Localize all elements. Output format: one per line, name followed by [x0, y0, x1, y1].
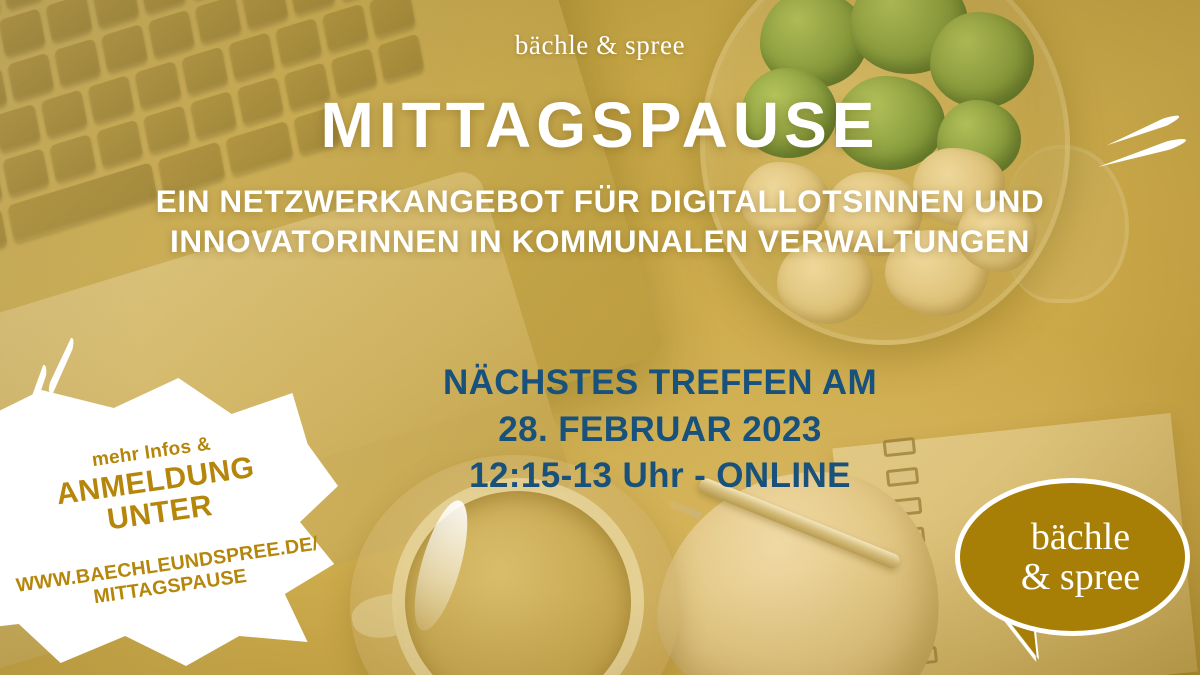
event-line-1: NÄCHSTES TREFFEN AM — [330, 360, 990, 407]
subtitle: EIN NETZWERKANGEBOT FÜR DIGITALLOTSINNEN… — [0, 182, 1200, 261]
logo-line-2: & spree — [1021, 558, 1140, 596]
subtitle-line-2: INNOVATORINNEN IN KOMMUNALEN VERWALTUNGE… — [0, 222, 1200, 262]
registration-callout[interactable]: mehr Infos & ANMELDUNG UNTER WWW.BAECHLE… — [0, 372, 338, 672]
logo-line-1: bächle — [1031, 516, 1130, 558]
poster-canvas: bächle & spree MITTAGSPAUSE EIN NETZWERK… — [0, 0, 1200, 675]
brand-wordmark: bächle & spree — [0, 30, 1200, 61]
logo-text: bächle & spree — [1005, 518, 1140, 596]
speech-bubble-icon: bächle & spree — [955, 478, 1190, 636]
event-date: 28. FEBRUAR 2023 — [330, 407, 990, 454]
event-details: NÄCHSTES TREFFEN AM 28. FEBRUAR 2023 12:… — [330, 360, 990, 500]
event-time-location: 12:15-13 Uhr - ONLINE — [330, 453, 990, 500]
subtitle-line-1: EIN NETZWERKANGEBOT FÜR DIGITALLOTSINNEN… — [0, 182, 1200, 222]
page-title: MITTAGSPAUSE — [0, 88, 1200, 162]
callout-text: mehr Infos & ANMELDUNG UNTER WWW.BAECHLE… — [0, 347, 357, 675]
logo-speech-bubble: bächle & spree — [955, 478, 1190, 674]
